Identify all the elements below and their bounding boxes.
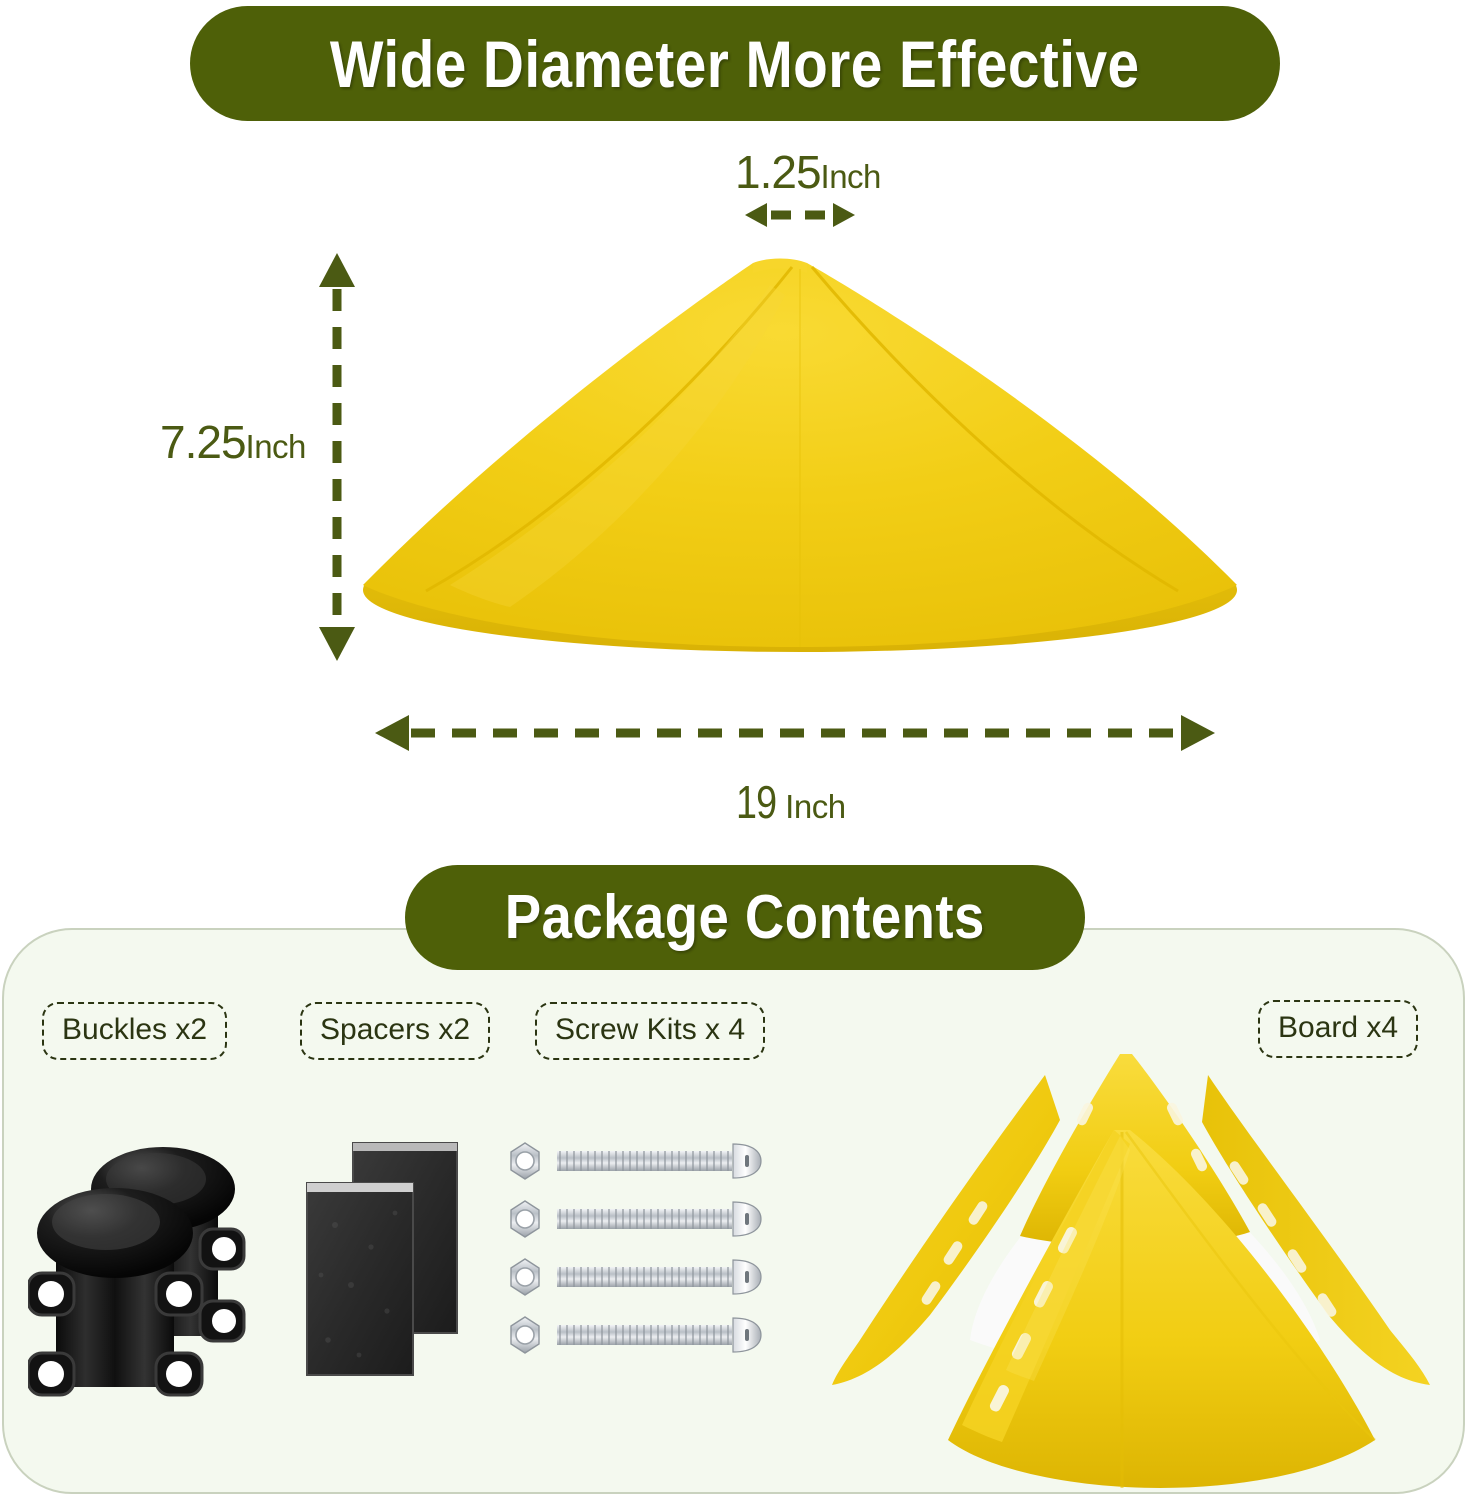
spacers-icon <box>295 1135 485 1410</box>
dimension-left-unit: Inch <box>246 428 306 466</box>
package-item-label-spacers: Spacers x2 <box>300 1002 490 1060</box>
dimension-arrow-top <box>745 198 855 232</box>
package-item-label-screw-kits: Screw Kits x 4 <box>535 1002 765 1060</box>
board-panels-icon <box>830 1040 1455 1495</box>
dimension-label-bottom: 19 Inch <box>736 775 846 829</box>
cone-svg <box>360 255 1240 660</box>
dimension-label-top: 1.25 Inch <box>735 145 881 199</box>
dimension-bottom-value: 19 <box>736 775 776 829</box>
package-item-label-buckles: Buckles x2 <box>42 1002 227 1060</box>
package-contents-title: Package Contents <box>505 887 985 949</box>
dimension-label-left: 7.25 Inch <box>160 415 306 469</box>
dimension-left-value: 7.25 <box>160 415 246 469</box>
package-item-label-board: Board x4 <box>1258 1000 1418 1058</box>
buckles-icon <box>28 1135 278 1425</box>
dimension-bottom-unit: Inch <box>785 788 845 826</box>
product-cone-baffle-image <box>360 255 1240 660</box>
dimension-top-value: 1.25 <box>735 145 821 199</box>
dimension-arrow-left-vertical <box>315 253 359 661</box>
dimension-top-unit: Inch <box>821 158 881 196</box>
header-banner-wide-diameter: Wide Diameter More Effective <box>190 6 1280 121</box>
package-contents-banner: Package Contents <box>405 865 1085 970</box>
screws-icon <box>505 1140 785 1375</box>
dimension-arrow-bottom-horizontal <box>375 712 1215 754</box>
header-banner-title: Wide Diameter More Effective <box>330 31 1140 97</box>
